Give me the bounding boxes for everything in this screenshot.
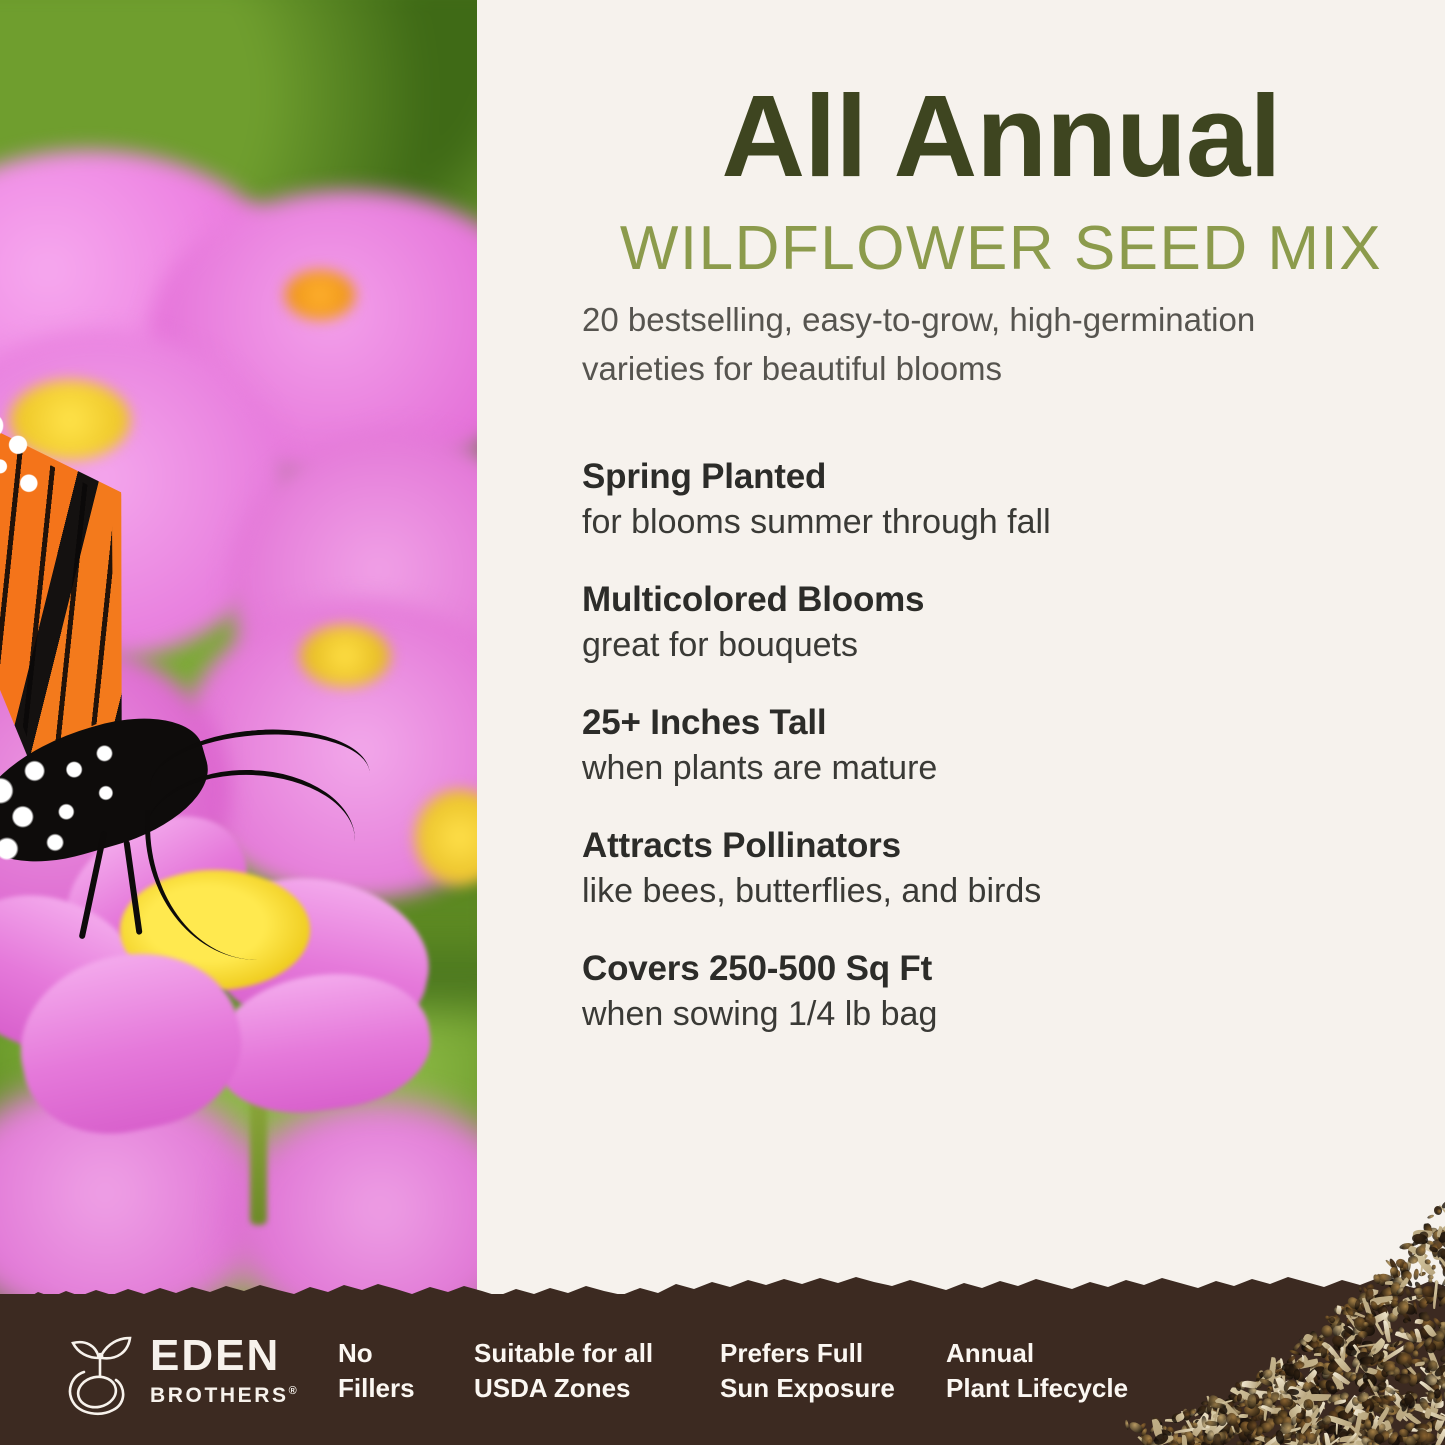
- badge-line-1: No: [338, 1336, 415, 1371]
- seed: [1415, 1245, 1425, 1255]
- seed: [1427, 1214, 1435, 1220]
- hero-photo-butterfly-on-cosmos: [0, 0, 477, 1310]
- seed: [1408, 1255, 1419, 1264]
- seed: [1292, 1361, 1305, 1370]
- feature-list: Spring Planted for blooms summer through…: [582, 455, 1382, 1070]
- seed: [1329, 1385, 1335, 1390]
- feature-title: Spring Planted: [582, 455, 1382, 500]
- seed: [1321, 1415, 1331, 1425]
- seed-pile-photo: [1115, 1175, 1445, 1445]
- content-panel: All Annual WILDFLOWER SEED MIX 20 bestse…: [477, 0, 1445, 1310]
- eden-brothers-sprout-icon: [58, 1332, 142, 1418]
- seed: [1357, 1331, 1367, 1338]
- feature-subtitle: like bees, butterflies, and birds: [582, 869, 1382, 913]
- seed: [1205, 1420, 1219, 1426]
- seed: [1413, 1350, 1419, 1357]
- badge-line-1: Suitable for all: [474, 1336, 653, 1371]
- feature-item: Spring Planted for blooms summer through…: [582, 455, 1382, 544]
- badge-line-2: Sun Exposure: [720, 1371, 895, 1406]
- seed: [1390, 1267, 1398, 1276]
- brand-name-bottom-text: BROTHERS: [150, 1384, 289, 1407]
- badge-line-1: Annual: [946, 1336, 1128, 1371]
- description-line-2: varieties for beautiful blooms: [582, 345, 1342, 394]
- product-infographic: All Annual WILDFLOWER SEED MIX 20 bestse…: [0, 0, 1445, 1445]
- seed: [1440, 1355, 1445, 1364]
- brand-wordmark: EDEN BROTHERS®: [150, 1334, 330, 1406]
- feature-item: 25+ Inches Tall when plants are mature: [582, 701, 1382, 790]
- seed: [1293, 1369, 1301, 1380]
- badge-no-fillers: No Fillers: [338, 1336, 415, 1406]
- feature-title: Multicolored Blooms: [582, 578, 1382, 623]
- feature-subtitle: when plants are mature: [582, 746, 1382, 790]
- seed: [1441, 1196, 1445, 1209]
- monarch-butterfly: [0, 400, 390, 920]
- seed: [1189, 1409, 1195, 1414]
- feature-subtitle: for blooms summer through fall: [582, 500, 1382, 544]
- registered-trademark-icon: ®: [289, 1385, 300, 1397]
- feature-title: Attracts Pollinators: [582, 824, 1382, 869]
- feature-item: Multicolored Blooms great for bouquets: [582, 578, 1382, 667]
- description-line-1: 20 bestselling, easy-to-grow, high-germi…: [582, 296, 1342, 345]
- butterfly-wing-spots: [0, 404, 54, 524]
- seed: [1287, 1389, 1299, 1395]
- brand-name-top: EDEN: [150, 1334, 330, 1378]
- seed: [1428, 1278, 1433, 1284]
- feature-title: Covers 250-500 Sq Ft: [582, 947, 1382, 992]
- footer-badges: No Fillers Suitable for all USDA Zones P…: [338, 1336, 1178, 1426]
- feature-subtitle: great for bouquets: [582, 623, 1382, 667]
- product-subtitle: WILDFLOWER SEED MIX: [581, 218, 1421, 280]
- badge-line-1: Prefers Full: [720, 1336, 895, 1371]
- seed: [1441, 1383, 1445, 1391]
- badge-usda-zones: Suitable for all USDA Zones: [474, 1336, 653, 1406]
- brand-logo: EDEN BROTHERS®: [58, 1330, 318, 1422]
- seed: [1372, 1386, 1379, 1393]
- badge-line-2: USDA Zones: [474, 1371, 653, 1406]
- flower-center-orange: [285, 270, 355, 320]
- brand-name-bottom: BROTHERS®: [150, 1385, 330, 1406]
- product-description: 20 bestselling, easy-to-grow, high-germi…: [582, 296, 1342, 394]
- feature-item: Attracts Pollinators like bees, butterfl…: [582, 824, 1382, 913]
- seed-husk: [1414, 1318, 1422, 1325]
- feature-item: Covers 250-500 Sq Ft when sowing 1/4 lb …: [582, 947, 1382, 1036]
- page-title: All Annual: [581, 78, 1421, 194]
- feature-subtitle: when sowing 1/4 lb bag: [582, 992, 1382, 1036]
- seed: [1405, 1436, 1416, 1445]
- badge-line-2: Plant Lifecycle: [946, 1371, 1128, 1406]
- badge-plant-lifecycle: Annual Plant Lifecycle: [946, 1336, 1128, 1406]
- badge-sun-exposure: Prefers Full Sun Exposure: [720, 1336, 895, 1406]
- feature-title: 25+ Inches Tall: [582, 701, 1382, 746]
- badge-line-2: Fillers: [338, 1371, 415, 1406]
- seed: [1431, 1265, 1436, 1270]
